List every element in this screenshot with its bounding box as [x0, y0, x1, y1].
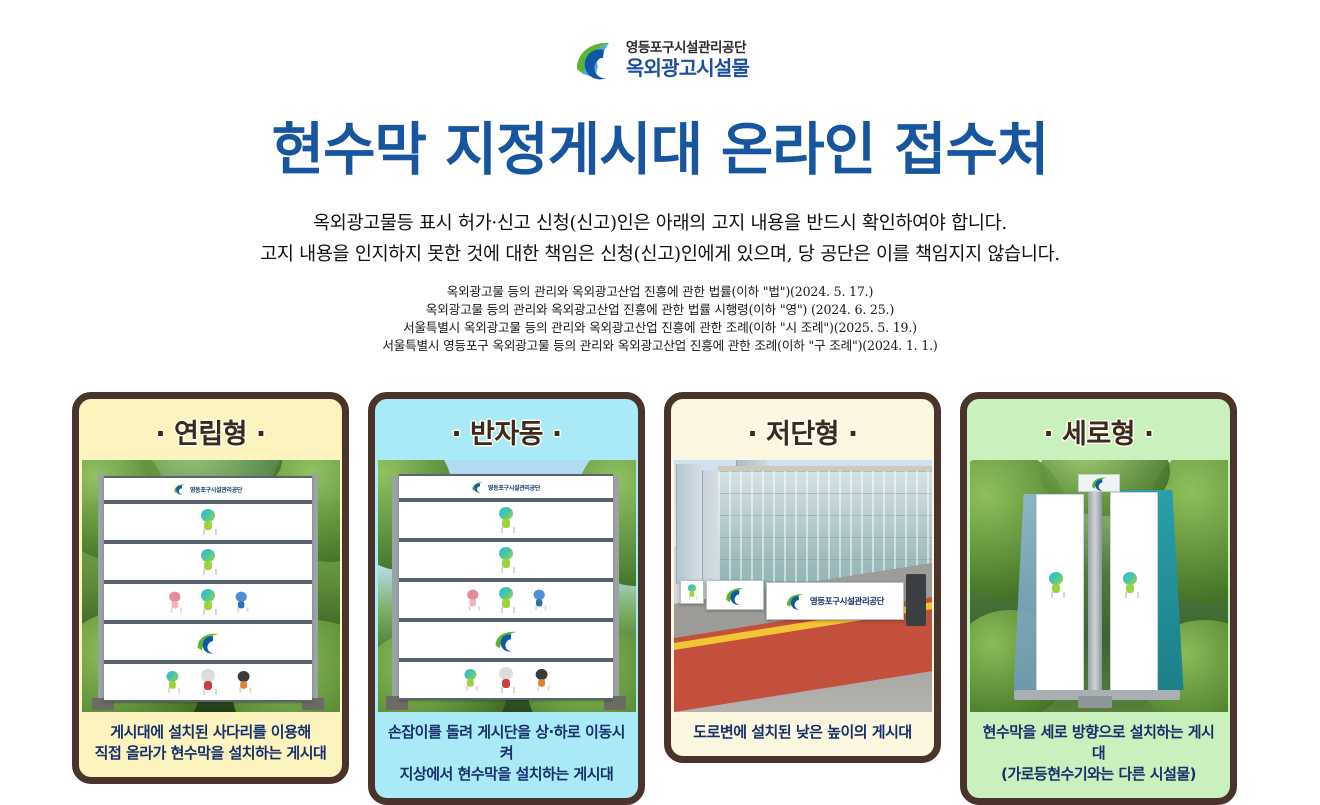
center-pole: [1088, 482, 1102, 694]
mascot-icon: [197, 589, 219, 615]
notice-line-1: 옥외광고물등 표시 허가·신고 신청(신고)인은 아래의 고지 내용을 반드시 …: [0, 208, 1320, 239]
legal-reference-item: 서울특별시 옥외광고물 등의 관리와 옥외광고산업 진흥에 관한 조례(이하 "…: [0, 319, 1320, 337]
board-logo-icon: [1090, 476, 1108, 491]
logo-division-name: 옥외광고시설물: [626, 58, 749, 78]
board-panel: [399, 660, 613, 700]
low-banner-org-label: 영등포구시설관리공단: [810, 595, 884, 607]
board-panel: [399, 540, 613, 580]
banner-type-card-banjadong[interactable]: · 반자동 · 영등포구시설관리공단: [368, 392, 645, 805]
page-title: 현수막 지정게시대 온라인 접수처: [0, 104, 1320, 186]
building: [676, 464, 703, 584]
low-banner-logo: [706, 580, 764, 610]
mascot-icon: [495, 667, 517, 693]
board-logo-icon: [785, 592, 805, 610]
mascot-icon: [461, 669, 480, 691]
card-title: · 반자동 ·: [451, 412, 561, 451]
banner-type-card-list: · 연립형 · 영등포구시설관리공단: [72, 392, 1254, 805]
legal-reference-item: 서울특별시 영등포구 옥외광고물 등의 관리와 옥외광고산업 진흥에 관한 조례…: [0, 337, 1320, 355]
board-logo-icon: [173, 483, 186, 495]
mascot-icon: [532, 669, 551, 691]
board-logo-icon: [724, 586, 746, 605]
notice-block: 옥외광고물등 표시 허가·신고 신청(신고)인은 아래의 고지 내용을 반드시 …: [0, 208, 1320, 270]
low-banner-small: [680, 580, 704, 604]
banner-type-card-sero[interactable]: · 세로형 ·: [960, 392, 1237, 805]
board-panel: [399, 500, 613, 540]
base-block: [1078, 696, 1112, 708]
card-title: · 세로형 ·: [1043, 412, 1153, 451]
mascot-icon: [232, 592, 250, 613]
mascot-icon: [495, 507, 517, 533]
card-caption: 게시대에 설치된 사다리를 이용해 직접 올라가 현수막을 설치하는 게시대: [93, 712, 329, 777]
board-org-label: 영등포구시설관리공단: [173, 483, 242, 495]
logo-org-name: 영등포구시설관리공단: [626, 42, 746, 56]
card-caption: 현수막을 세로 방향으로 설치하는 게시대 (가로등현수기와는 다른 시설물): [976, 712, 1221, 798]
mascot-icon: [197, 669, 219, 695]
card-photo-jeodan: 영등포구시설관리공단: [674, 460, 932, 712]
board-panel: [399, 580, 613, 620]
site-logo-block: 영등포구시설관리공단 옥외광고시설물: [0, 38, 1320, 82]
card-photo-banjadong: 영등포구시설관리공단: [378, 460, 636, 712]
mascot-icon: [197, 509, 219, 535]
board-panel: [399, 620, 613, 660]
mascot-icon: [685, 584, 698, 600]
low-banner-main: 영등포구시설관리공단: [766, 582, 904, 620]
board-logo-icon: [195, 631, 221, 654]
legal-reference-list: 옥외광고물 등의 관리와 옥외광고산업 진흥에 관한 법률(이하 "법")(20…: [0, 283, 1320, 355]
card-title: · 연립형 ·: [155, 412, 265, 451]
board-org-label: 영등포구시설관리공단: [471, 481, 540, 493]
board-panel: [104, 662, 312, 702]
banner-type-card-jeodan[interactable]: · 저단형 ·: [664, 392, 941, 763]
board-panel: [104, 622, 312, 662]
mascot-icon: [464, 590, 482, 611]
yeongdeungpo-facility-logo-icon: [571, 38, 617, 82]
card-caption: 도로변에 설치된 낮은 높이의 게시대: [691, 712, 913, 756]
legal-reference-item: 옥외광고물 등의 관리와 옥외광고산업 진흥에 관한 법률(이하 "법")(20…: [0, 283, 1320, 301]
board-logo-icon: [471, 481, 484, 493]
mascot-icon: [163, 671, 182, 693]
mascot-icon: [530, 590, 548, 611]
card-title: · 저단형 ·: [747, 412, 857, 451]
card-caption: 손잡이를 돌려 게시단을 상·하로 이동시켜 지상에서 현수막을 설치하는 게시…: [384, 712, 629, 798]
mascot-icon: [197, 549, 219, 575]
board-logo-icon: [493, 629, 519, 652]
board-panel: [104, 502, 312, 542]
mascot-icon: [234, 671, 253, 693]
board-panel-header: 영등포구시설관리공단: [104, 476, 312, 502]
notice-line-2: 고지 내용을 인지하지 못한 것에 대한 책임은 신청(신고)인에게 있으며, …: [0, 239, 1320, 270]
mascot-icon: [495, 547, 517, 573]
mascot-icon: [166, 592, 184, 613]
card-photo-sero: [970, 460, 1228, 712]
board-panel-header: 영등포구시설관리공단: [399, 474, 613, 500]
board-panel: [104, 542, 312, 582]
card-photo-yeonrip: 영등포구시설관리공단: [82, 460, 340, 712]
top-logo-plate: [1078, 474, 1120, 492]
board-panel: [104, 582, 312, 622]
legal-reference-item: 옥외광고물 등의 관리와 옥외광고산업 진흥에 관한 법률 시행령(이하 "영"…: [0, 301, 1320, 319]
banner-type-card-yeonrip[interactable]: · 연립형 · 영등포구시설관리공단: [72, 392, 349, 784]
mascot-icon: [495, 587, 517, 613]
street-cabinet: [906, 574, 926, 626]
